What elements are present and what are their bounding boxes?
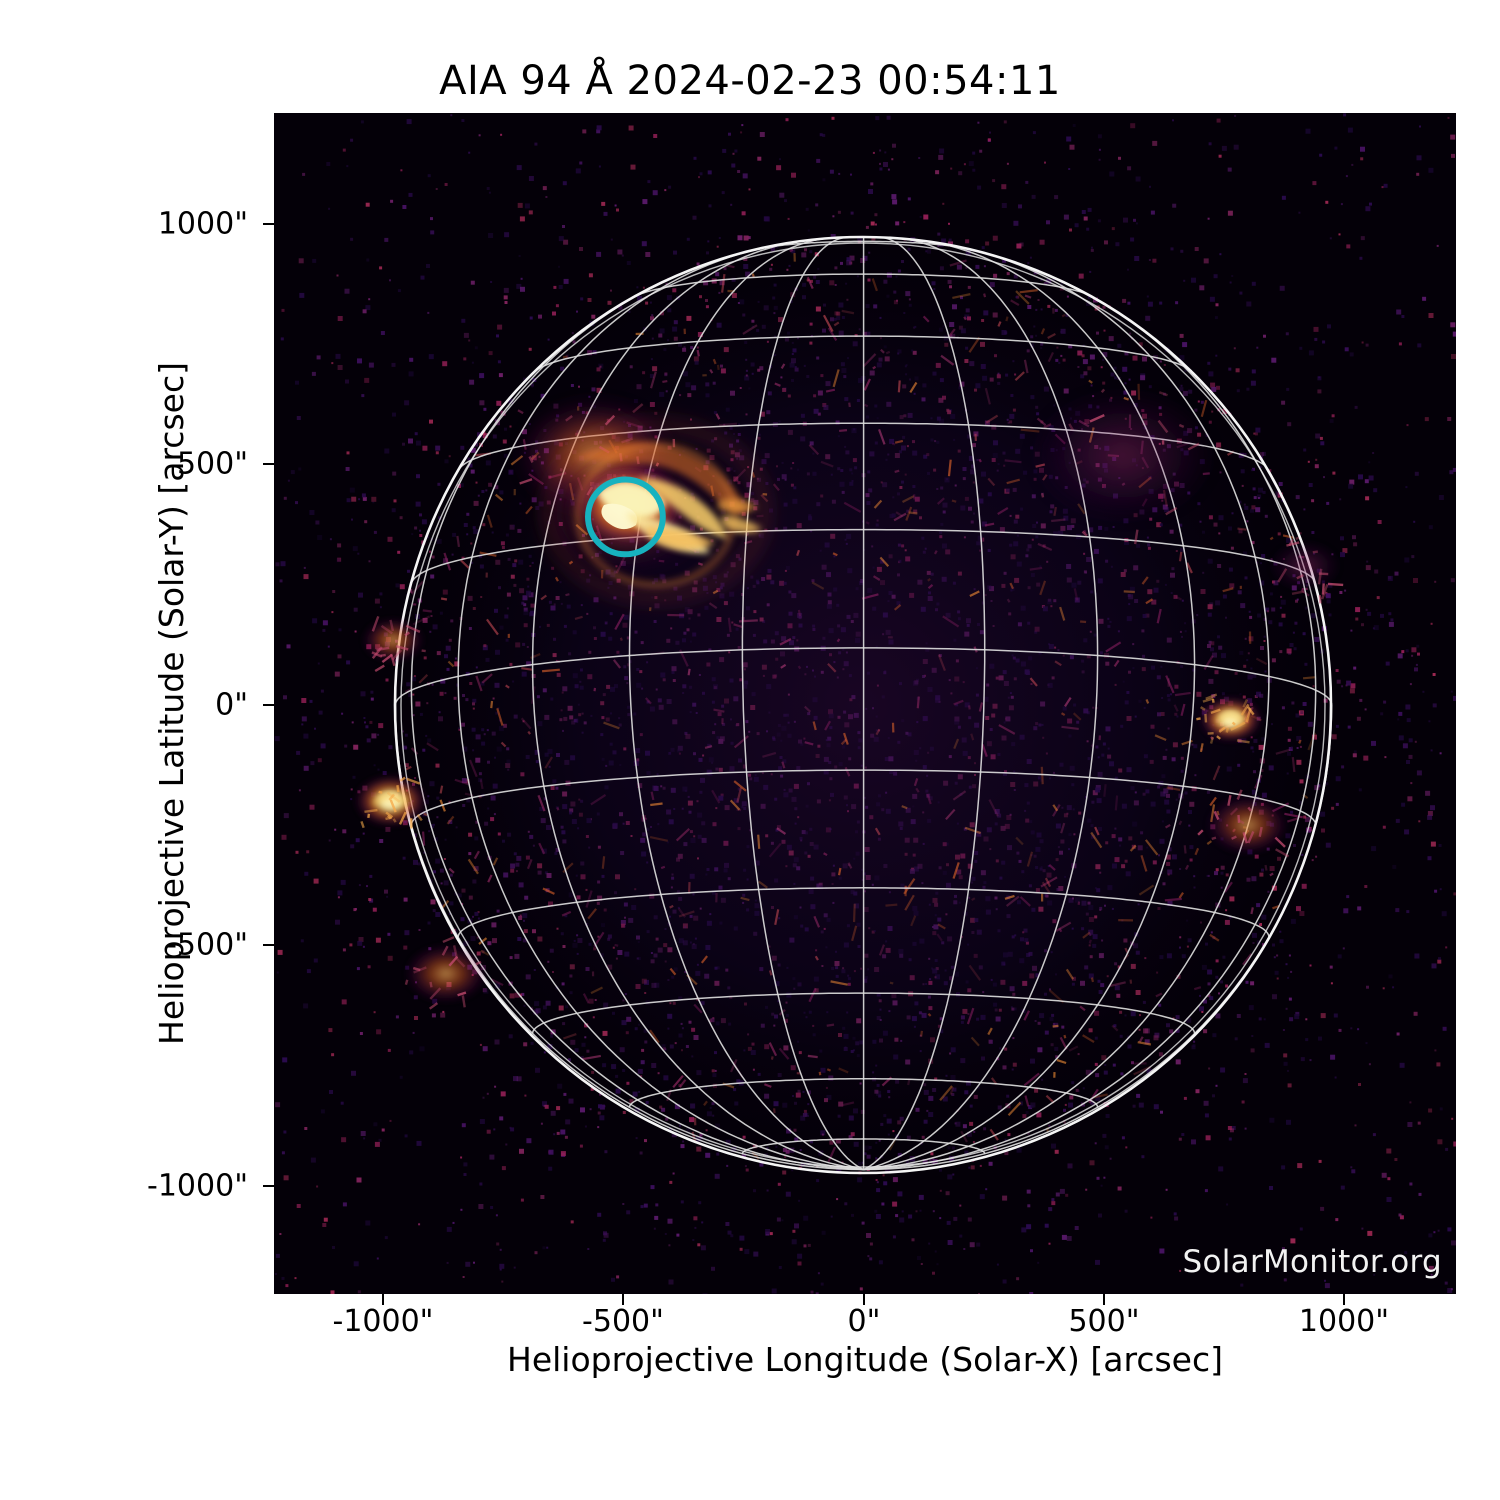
ytick-mark-500 — [263, 463, 274, 465]
xtick-mark-500 — [1103, 1294, 1105, 1305]
xtick-label-1000: 1000" — [1299, 1304, 1389, 1339]
x-axis-label: Helioprojective Longitude (Solar-X) [arc… — [274, 1340, 1456, 1379]
ytick-mark-neg1000 — [263, 1185, 274, 1187]
ytick-mark-neg500 — [263, 944, 274, 946]
xtick-mark-neg500 — [622, 1294, 624, 1305]
xtick-mark-neg1000 — [382, 1294, 384, 1305]
xtick-mark-1000 — [1343, 1294, 1345, 1305]
solar-disk-svg — [274, 113, 1456, 1294]
xtick-label-0: 0" — [848, 1304, 881, 1339]
solar-image-plot-area[interactable]: SolarMonitor.org — [274, 113, 1456, 1294]
solar-image-figure: AIA 94 Å 2024-02-23 00:54:11 1000" 500" … — [0, 0, 1500, 1500]
xtick-label-500: 500" — [1068, 1304, 1139, 1339]
ytick-mark-1000 — [263, 223, 274, 225]
xtick-label-neg1000: -1000" — [333, 1304, 434, 1339]
xtick-label-neg500: -500" — [582, 1304, 664, 1339]
xtick-mark-0 — [863, 1294, 865, 1305]
ytick-mark-0 — [263, 704, 274, 706]
page-title: AIA 94 Å 2024-02-23 00:54:11 — [0, 58, 1500, 104]
y-axis-label: Helioprojective Latitude (Solar-Y) [arcs… — [152, 113, 196, 1294]
